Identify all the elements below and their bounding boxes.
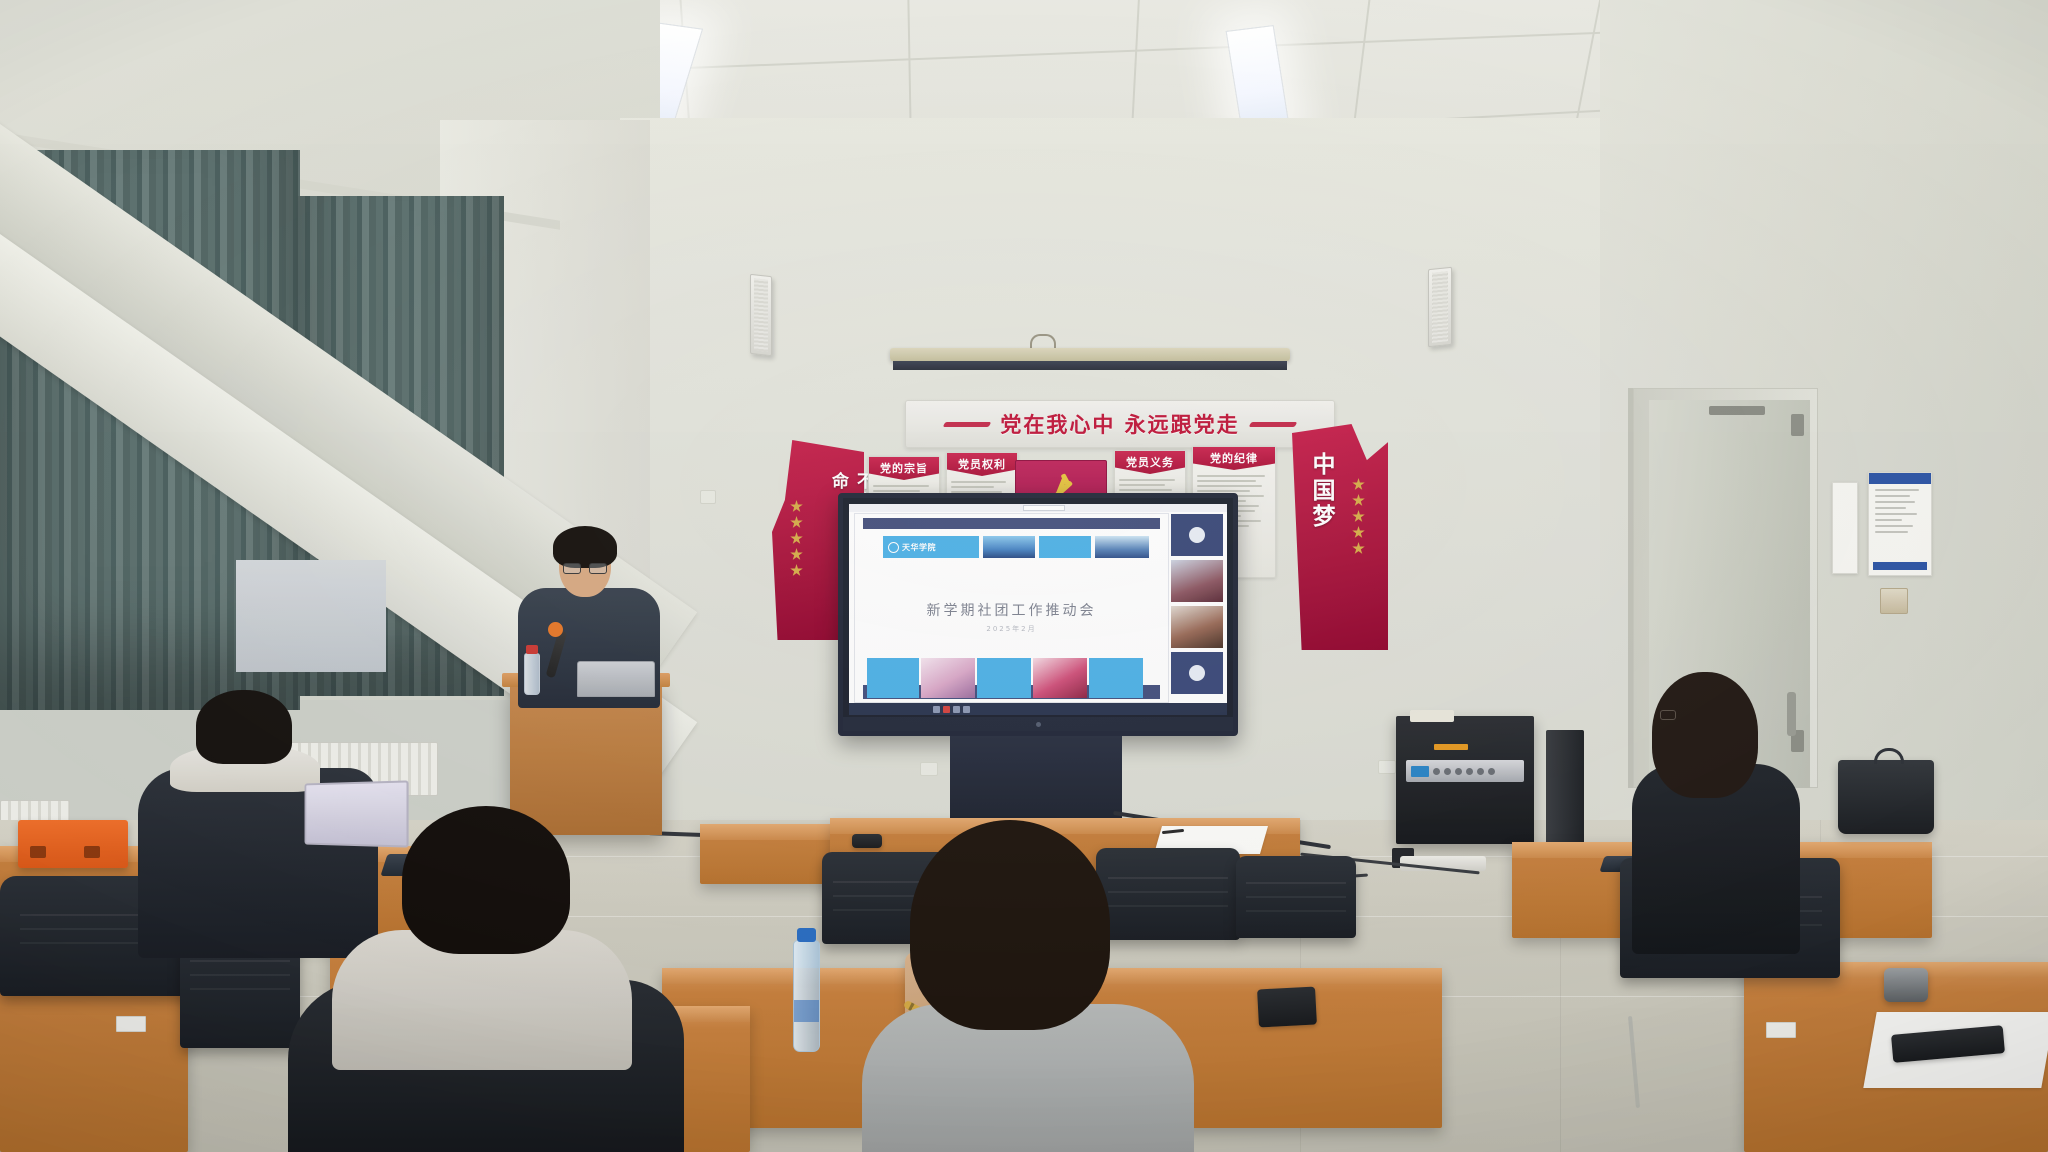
party-slogan-banner: 党在我心中 永远跟党走 <box>905 400 1335 448</box>
slide-photo-2 <box>1039 536 1091 558</box>
slide-title: 新学期社团工作推动会 <box>855 600 1168 620</box>
attendee-right-glasses-icon <box>1660 710 1676 720</box>
presentation-display[interactable]: 天华学院 新学期社团工作推动会 2025年2月 <box>838 493 1238 736</box>
poster-footer <box>1873 562 1927 570</box>
speaker-grille <box>754 278 768 351</box>
star-icon <box>790 516 803 529</box>
projector-screen-rail <box>893 361 1287 370</box>
star-icon <box>1352 494 1365 507</box>
door-closer <box>1709 406 1765 415</box>
slide-photo-4 <box>867 658 919 698</box>
attendee-laptop[interactable] <box>305 780 409 847</box>
poster-header <box>1869 473 1931 484</box>
banner-dash-right <box>1248 422 1297 427</box>
display-stand <box>950 736 1122 828</box>
address-bar[interactable] <box>1023 505 1065 511</box>
party-panel-3-label: 党员义务 <box>1115 451 1185 474</box>
party-panel-1-label: 党的宗旨 <box>869 457 939 480</box>
slide-subtitle: 2025年2月 <box>855 624 1168 634</box>
red-wing-right-stars <box>1352 478 1365 555</box>
taskbar-icon[interactable] <box>963 706 970 713</box>
poster-body <box>1869 484 1931 542</box>
amplifier-knob[interactable] <box>1466 768 1473 775</box>
bottle-label <box>794 1000 819 1022</box>
chair-back-center[interactable] <box>1096 848 1240 940</box>
display-power-led <box>1036 722 1041 727</box>
amplifier-knob[interactable] <box>1477 768 1484 775</box>
slide-band-top <box>863 518 1160 529</box>
meeting-tile[interactable] <box>1171 560 1223 602</box>
amplifier-knob[interactable] <box>1433 768 1440 775</box>
wall-notice-left <box>1832 482 1858 574</box>
desk-item-device[interactable] <box>852 834 882 848</box>
wall-outlet-back[interactable] <box>920 762 938 776</box>
slide-photo-3 <box>1095 536 1149 558</box>
slide-photo-8 <box>1089 658 1143 698</box>
speaker-grille <box>1432 271 1448 343</box>
party-panel-2-label: 党员权利 <box>947 453 1017 476</box>
wall-mounted-box <box>1880 588 1908 614</box>
display-screen[interactable]: 天华学院 新学期社团工作推动会 2025年2月 <box>849 504 1227 715</box>
red-wing-right-text: 中国梦 <box>1304 452 1338 542</box>
star-icon <box>790 548 803 561</box>
meeting-participant-strip[interactable] <box>1171 514 1223 685</box>
desk-asset-label <box>116 1016 146 1032</box>
taskbar-icon-record[interactable] <box>943 706 950 713</box>
door-handle[interactable] <box>1787 692 1796 736</box>
attendee-left-hair <box>196 690 292 764</box>
party-panel-4-label: 党的纪律 <box>1193 447 1275 470</box>
slide-photo-6 <box>977 658 1031 698</box>
microphone-windscreen <box>548 622 563 637</box>
slide-photo-7 <box>1033 658 1087 698</box>
classroom-photo-scene: 党在我心中 永远跟党走 不忘初心 牢记使命 中国梦 党的宗旨 党员权利 <box>0 0 2048 1152</box>
amplifier-knob[interactable] <box>1444 768 1451 775</box>
door-hinge-top <box>1791 414 1804 436</box>
logo-text: 天华学院 <box>902 542 936 553</box>
wall-outlet-right[interactable] <box>1378 760 1396 774</box>
presenter-glasses-icon <box>563 563 609 574</box>
wall-speaker-right <box>1428 267 1452 348</box>
box-latch <box>84 846 100 858</box>
amplifier-knob[interactable] <box>1455 768 1462 775</box>
amplifier-knob[interactable] <box>1488 768 1495 775</box>
participant-avatar-icon <box>1189 665 1205 681</box>
wall-notice-right <box>1868 472 1932 576</box>
presenter-bottle-cap <box>526 645 538 654</box>
taskbar[interactable] <box>849 703 1227 715</box>
rack-paper <box>1410 710 1454 722</box>
wall-switch-plate[interactable] <box>700 490 716 504</box>
camera-lens-object <box>1884 968 1928 1002</box>
banner-slogan-text: 党在我心中 永远跟党走 <box>1000 409 1239 439</box>
amplifier-display <box>1411 766 1429 777</box>
meeting-tile[interactable] <box>1171 606 1223 648</box>
smartphone-center[interactable] <box>1257 987 1317 1028</box>
attendee-right-hair <box>1652 672 1758 798</box>
star-icon <box>1352 542 1365 555</box>
stairwell-window <box>236 560 386 672</box>
audio-amplifier[interactable] <box>1406 760 1524 782</box>
red-wing-left-stars <box>790 500 803 577</box>
slide-canvas: 天华学院 新学期社团工作推动会 2025年2月 <box>854 513 1169 703</box>
chair-back-right[interactable] <box>1236 856 1356 938</box>
logo-circle-icon <box>888 542 899 553</box>
star-icon <box>1352 510 1365 523</box>
water-bottle-desk <box>793 940 820 1052</box>
taskbar-icon[interactable] <box>933 706 940 713</box>
av-equipment-rack <box>1396 716 1534 844</box>
banner-dash-left <box>943 422 992 427</box>
slide-photo-5 <box>921 658 975 698</box>
bottle-cap <box>797 928 816 942</box>
black-tote-bag <box>1838 760 1934 834</box>
star-icon <box>790 564 803 577</box>
floor-speaker <box>1546 730 1584 852</box>
display-bezel-bottom <box>843 717 1233 731</box>
slide-university-logo: 天华学院 <box>883 536 979 558</box>
star-icon <box>1352 526 1365 539</box>
star-icon <box>1352 478 1365 491</box>
meeting-tile[interactable] <box>1171 652 1223 694</box>
projector-screen-roller <box>890 348 1290 361</box>
orange-toolbox <box>18 820 128 868</box>
presenter-water-bottle <box>524 653 540 695</box>
slide-photo-1 <box>983 536 1035 558</box>
desk-asset-label <box>1766 1022 1796 1038</box>
taskbar-icon[interactable] <box>953 706 960 713</box>
attendee-front-center-hair <box>910 820 1110 1030</box>
box-latch <box>30 846 46 858</box>
wall-speaker-left <box>750 274 772 356</box>
attendee-front-left-hair <box>402 806 570 954</box>
meeting-tile[interactable] <box>1171 514 1223 556</box>
star-icon <box>790 532 803 545</box>
participant-avatar-icon <box>1189 527 1205 543</box>
presenter-laptop[interactable] <box>577 661 655 697</box>
presenter-hair <box>553 526 617 568</box>
star-icon <box>790 500 803 513</box>
rack-indicator-light <box>1434 744 1468 750</box>
